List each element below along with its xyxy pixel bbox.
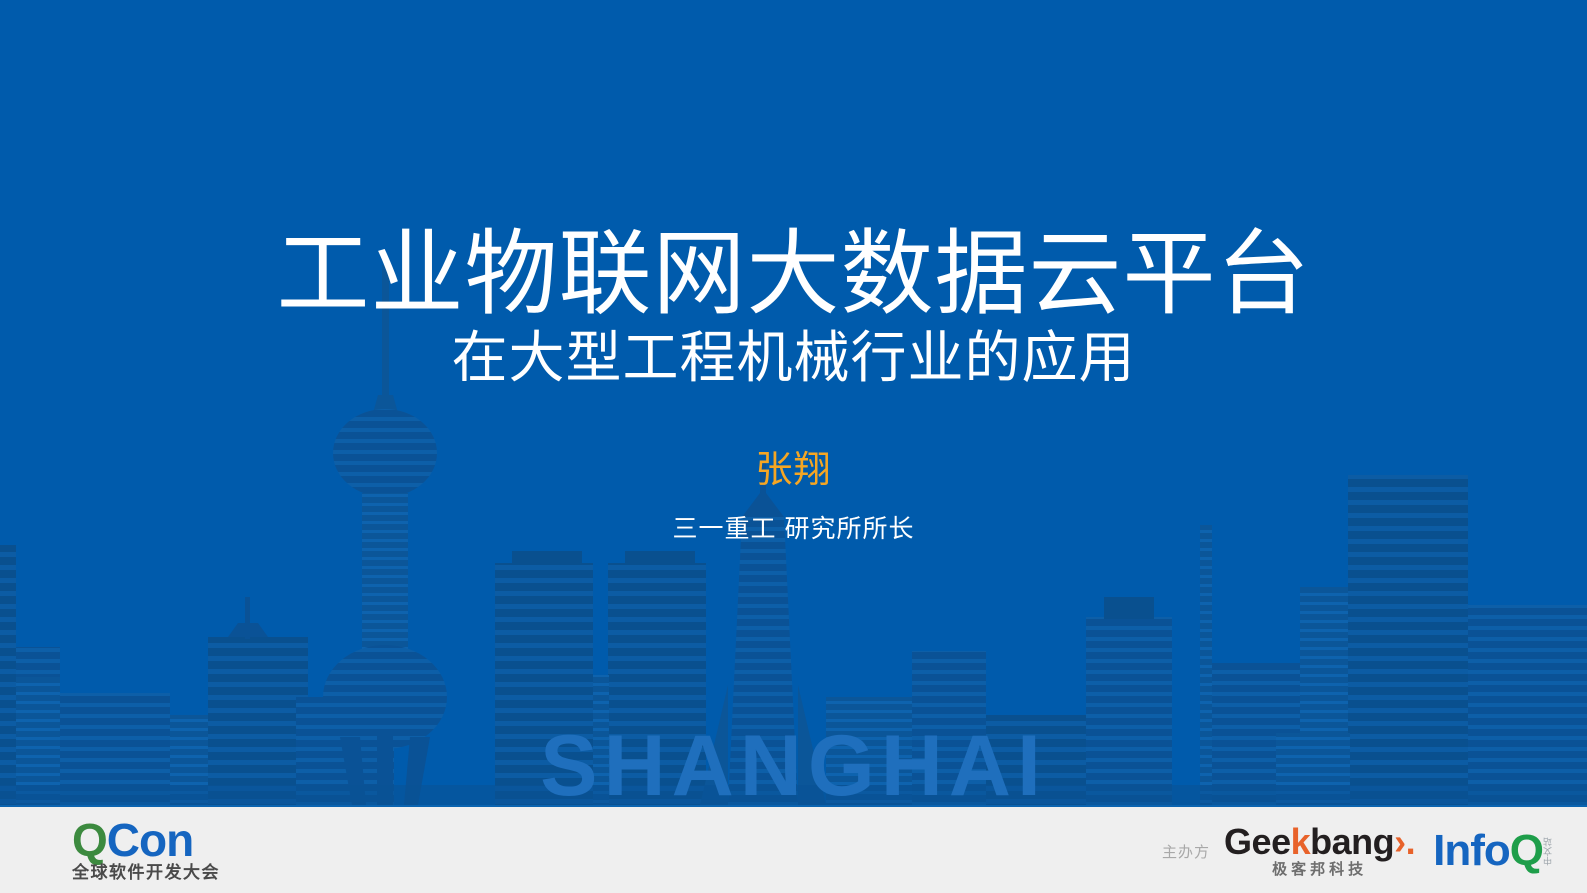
title-block: 工业物联网大数据云平台 在大型工程机械行业的应用 张翔 三一重工 研究所所长 [0,0,1587,544]
speaker-name: 张翔 [0,450,1587,491]
qcon-letters-con: Con [107,814,193,866]
geekbang-part-bang: bang [1310,821,1394,862]
geekbang-arrow-icon: ›. [1394,821,1415,862]
footer-bar: QCon 全球软件开发大会 主办方 Geekbang›. 极客邦科技 InfoQ… [0,805,1587,893]
infoq-vertical-text: 中文站 [1544,837,1553,866]
qcon-letter-q: Q [72,814,107,866]
qcon-wordmark: QCon [72,817,272,863]
infoq-logo: InfoQ 中文站 [1433,830,1553,872]
slide-title: 工业物联网大数据云平台 [0,228,1587,321]
qcon-tagline: 全球软件开发大会 [72,864,272,883]
geekbang-letter-k: k [1291,821,1311,862]
geekbang-logo: Geekbang›. 极客邦科技 [1224,824,1415,879]
qcon-logo: QCon 全球软件开发大会 [72,817,272,883]
geekbang-part-gee: Gee [1224,821,1291,862]
sponsor-logos: 主办方 Geekbang›. 极客邦科技 InfoQ 中文站 [1162,807,1553,893]
organizer-label: 主办方 [1162,841,1210,862]
geekbang-wordmark: Geekbang›. [1224,824,1415,860]
slide-subtitle: 在大型工程机械行业的应用 [0,329,1587,388]
geekbang-tagline: 极客邦科技 [1272,862,1367,879]
infoq-letter-q: Q [1510,826,1543,875]
speaker-affiliation: 三一重工 研究所所长 [0,516,1587,544]
city-watermark: SHANGHAI [0,729,1587,805]
presentation-slide: SHANGHAI 工业物联网大数据云平台 在大型工程机械行业的应用 张翔 三一重… [0,0,1587,893]
infoq-letters-info: Info [1433,826,1510,875]
infoq-wordmark: InfoQ [1433,830,1543,872]
